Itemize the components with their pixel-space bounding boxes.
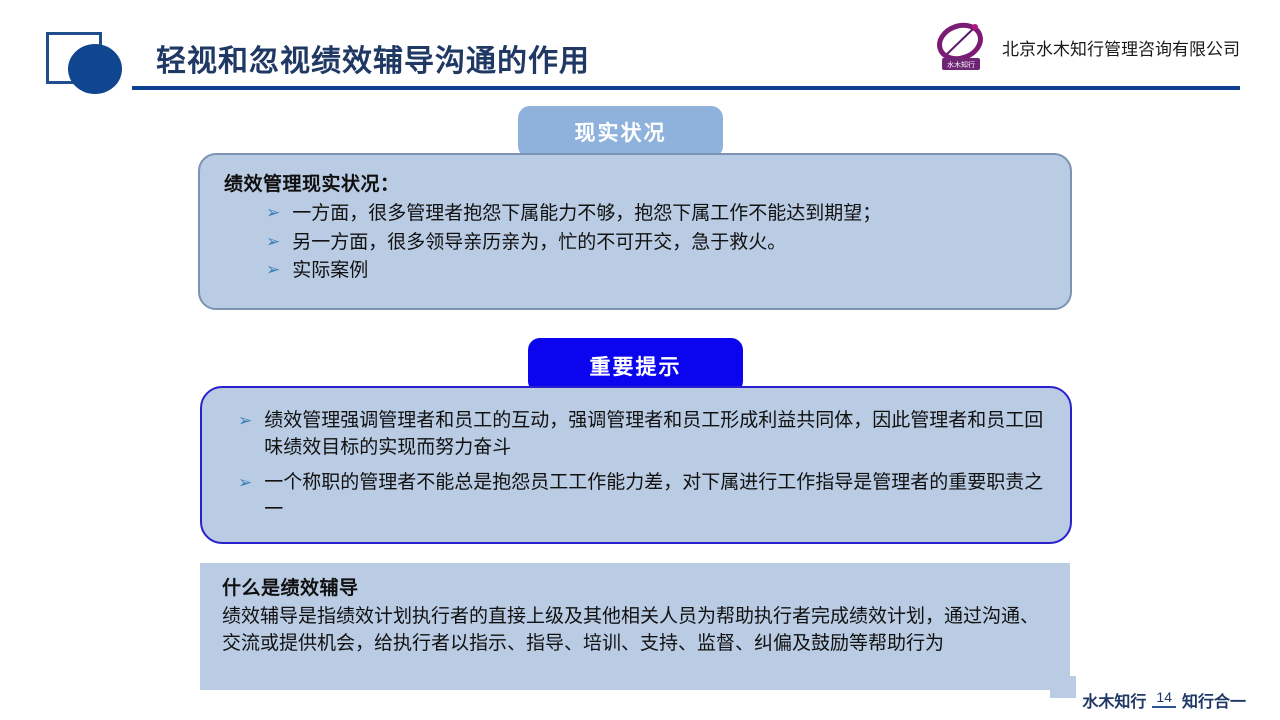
list-item: ➢ 绩效管理强调管理者和员工的互动，强调管理者和员工形成利益共同体，因此管理者和… [216,408,1046,462]
arrow-bullet-icon: ➢ [238,470,252,496]
header-divider [132,86,1240,90]
list-item-text: 绩效管理强调管理者和员工的互动，强调管理者和员工形成利益共同体，因此管理者和员工… [264,408,1046,462]
panel-coaching-definition: 什么是绩效辅导 绩效辅导是指绩效计划执行者的直接上级及其他相关人员为帮助执行者完… [200,563,1070,690]
header-circle-decoration [68,44,122,94]
panel-important-notice: ➢ 绩效管理强调管理者和员工的互动，强调管理者和员工形成利益共同体，因此管理者和… [200,386,1072,544]
page-number: 14 [1152,689,1176,708]
slide-root: 轻视和忽视绩效辅导沟通的作用 水木知行 北京水木知行管理咨询有限公司 现实状况 … [0,0,1280,720]
list-item-text: 一个称职的管理者不能总是抱怨员工工作能力差，对下属进行工作指导是管理者的重要职责… [264,470,1046,524]
tab-important-notice[interactable]: 重要提示 [528,338,743,393]
tab-notice-label: 重要提示 [590,351,682,381]
arrow-bullet-icon: ➢ [266,229,280,255]
list-item-text: 实际案例 [292,257,1046,286]
panel-reality-situation: 绩效管理现实状况： ➢ 一方面，很多管理者抱怨下属能力不够，抱怨下属工作不能达到… [198,153,1072,310]
list-item: ➢ 另一方面，很多领导亲历亲为，忙的不可开交，急于救火。 [266,229,1046,258]
list-item-text: 另一方面，很多领导亲历亲为，忙的不可开交，急于救火。 [292,229,1046,258]
list-item: ➢ 一方面，很多管理者抱怨下属能力不够，抱怨下属工作不能达到期望； [266,200,1046,229]
footer-color-swatch [1050,676,1076,698]
reality-bullet-list: ➢ 一方面，很多管理者抱怨下属能力不够，抱怨下属工作不能达到期望； ➢ 另一方面… [224,200,1046,286]
definition-body-text: 绩效辅导是指绩效计划执行者的直接上级及其他相关人员为帮助执行者完成绩效计划，通过… [222,604,1048,657]
list-item: ➢ 实际案例 [266,257,1046,286]
reality-heading: 绩效管理现实状况： [224,169,1046,196]
arrow-bullet-icon: ➢ [266,257,280,283]
page-title: 轻视和忽视绩效辅导沟通的作用 [156,36,590,80]
definition-heading: 什么是绩效辅导 [222,573,1048,600]
footer-left-text: 水木知行 [1082,688,1146,712]
arrow-bullet-icon: ➢ [266,200,280,226]
footer-right-text: 知行合一 [1182,688,1246,712]
brand-block: 水木知行 北京水木知行管理咨询有限公司 [930,20,1240,74]
tab-reality-situation[interactable]: 现实状况 [518,106,723,158]
list-item: ➢ 一个称职的管理者不能总是抱怨员工工作能力差，对下属进行工作指导是管理者的重要… [216,470,1046,524]
svg-text:水木知行: 水木知行 [947,60,975,69]
shuimuzhixing-logo: 水木知行 [930,20,990,74]
tab-reality-label: 现实状况 [575,117,667,147]
slide-footer: 水木知行 14 知行合一 [1082,688,1246,712]
list-item-text: 一方面，很多管理者抱怨下属能力不够，抱怨下属工作不能达到期望； [292,200,1046,229]
arrow-bullet-icon: ➢ [238,408,252,434]
notice-bullet-list: ➢ 绩效管理强调管理者和员工的互动，强调管理者和员工形成利益共同体，因此管理者和… [216,408,1046,524]
company-name: 北京水木知行管理咨询有限公司 [1002,35,1240,60]
